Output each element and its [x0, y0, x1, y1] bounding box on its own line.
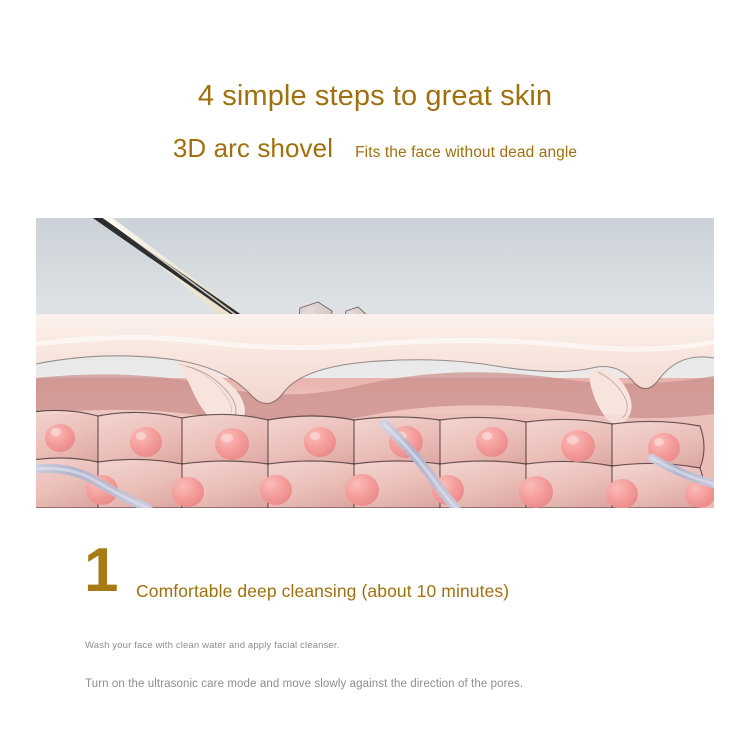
step-title: Comfortable deep cleansing (about 10 min…	[136, 581, 509, 602]
feature-tagline: Fits the face without dead angle	[355, 144, 577, 161]
page-headline: 4 simple steps to great skin	[0, 80, 750, 113]
step-instruction-line-2: Turn on the ultrasonic care mode and mov…	[85, 678, 523, 690]
step-number: 1	[84, 540, 117, 602]
product-detail-page: 4 simple steps to great skin 3D arc shov…	[0, 0, 750, 738]
subtitle-row: 3D arc shovelFits the face without dead …	[0, 133, 750, 164]
feature-subtitle: 3D arc shovel	[173, 133, 333, 163]
step-instruction-line-1: Wash your face with clean water and appl…	[85, 640, 339, 651]
skin-illustration-svg	[36, 218, 714, 508]
skin-cross-section-illustration	[36, 218, 714, 508]
